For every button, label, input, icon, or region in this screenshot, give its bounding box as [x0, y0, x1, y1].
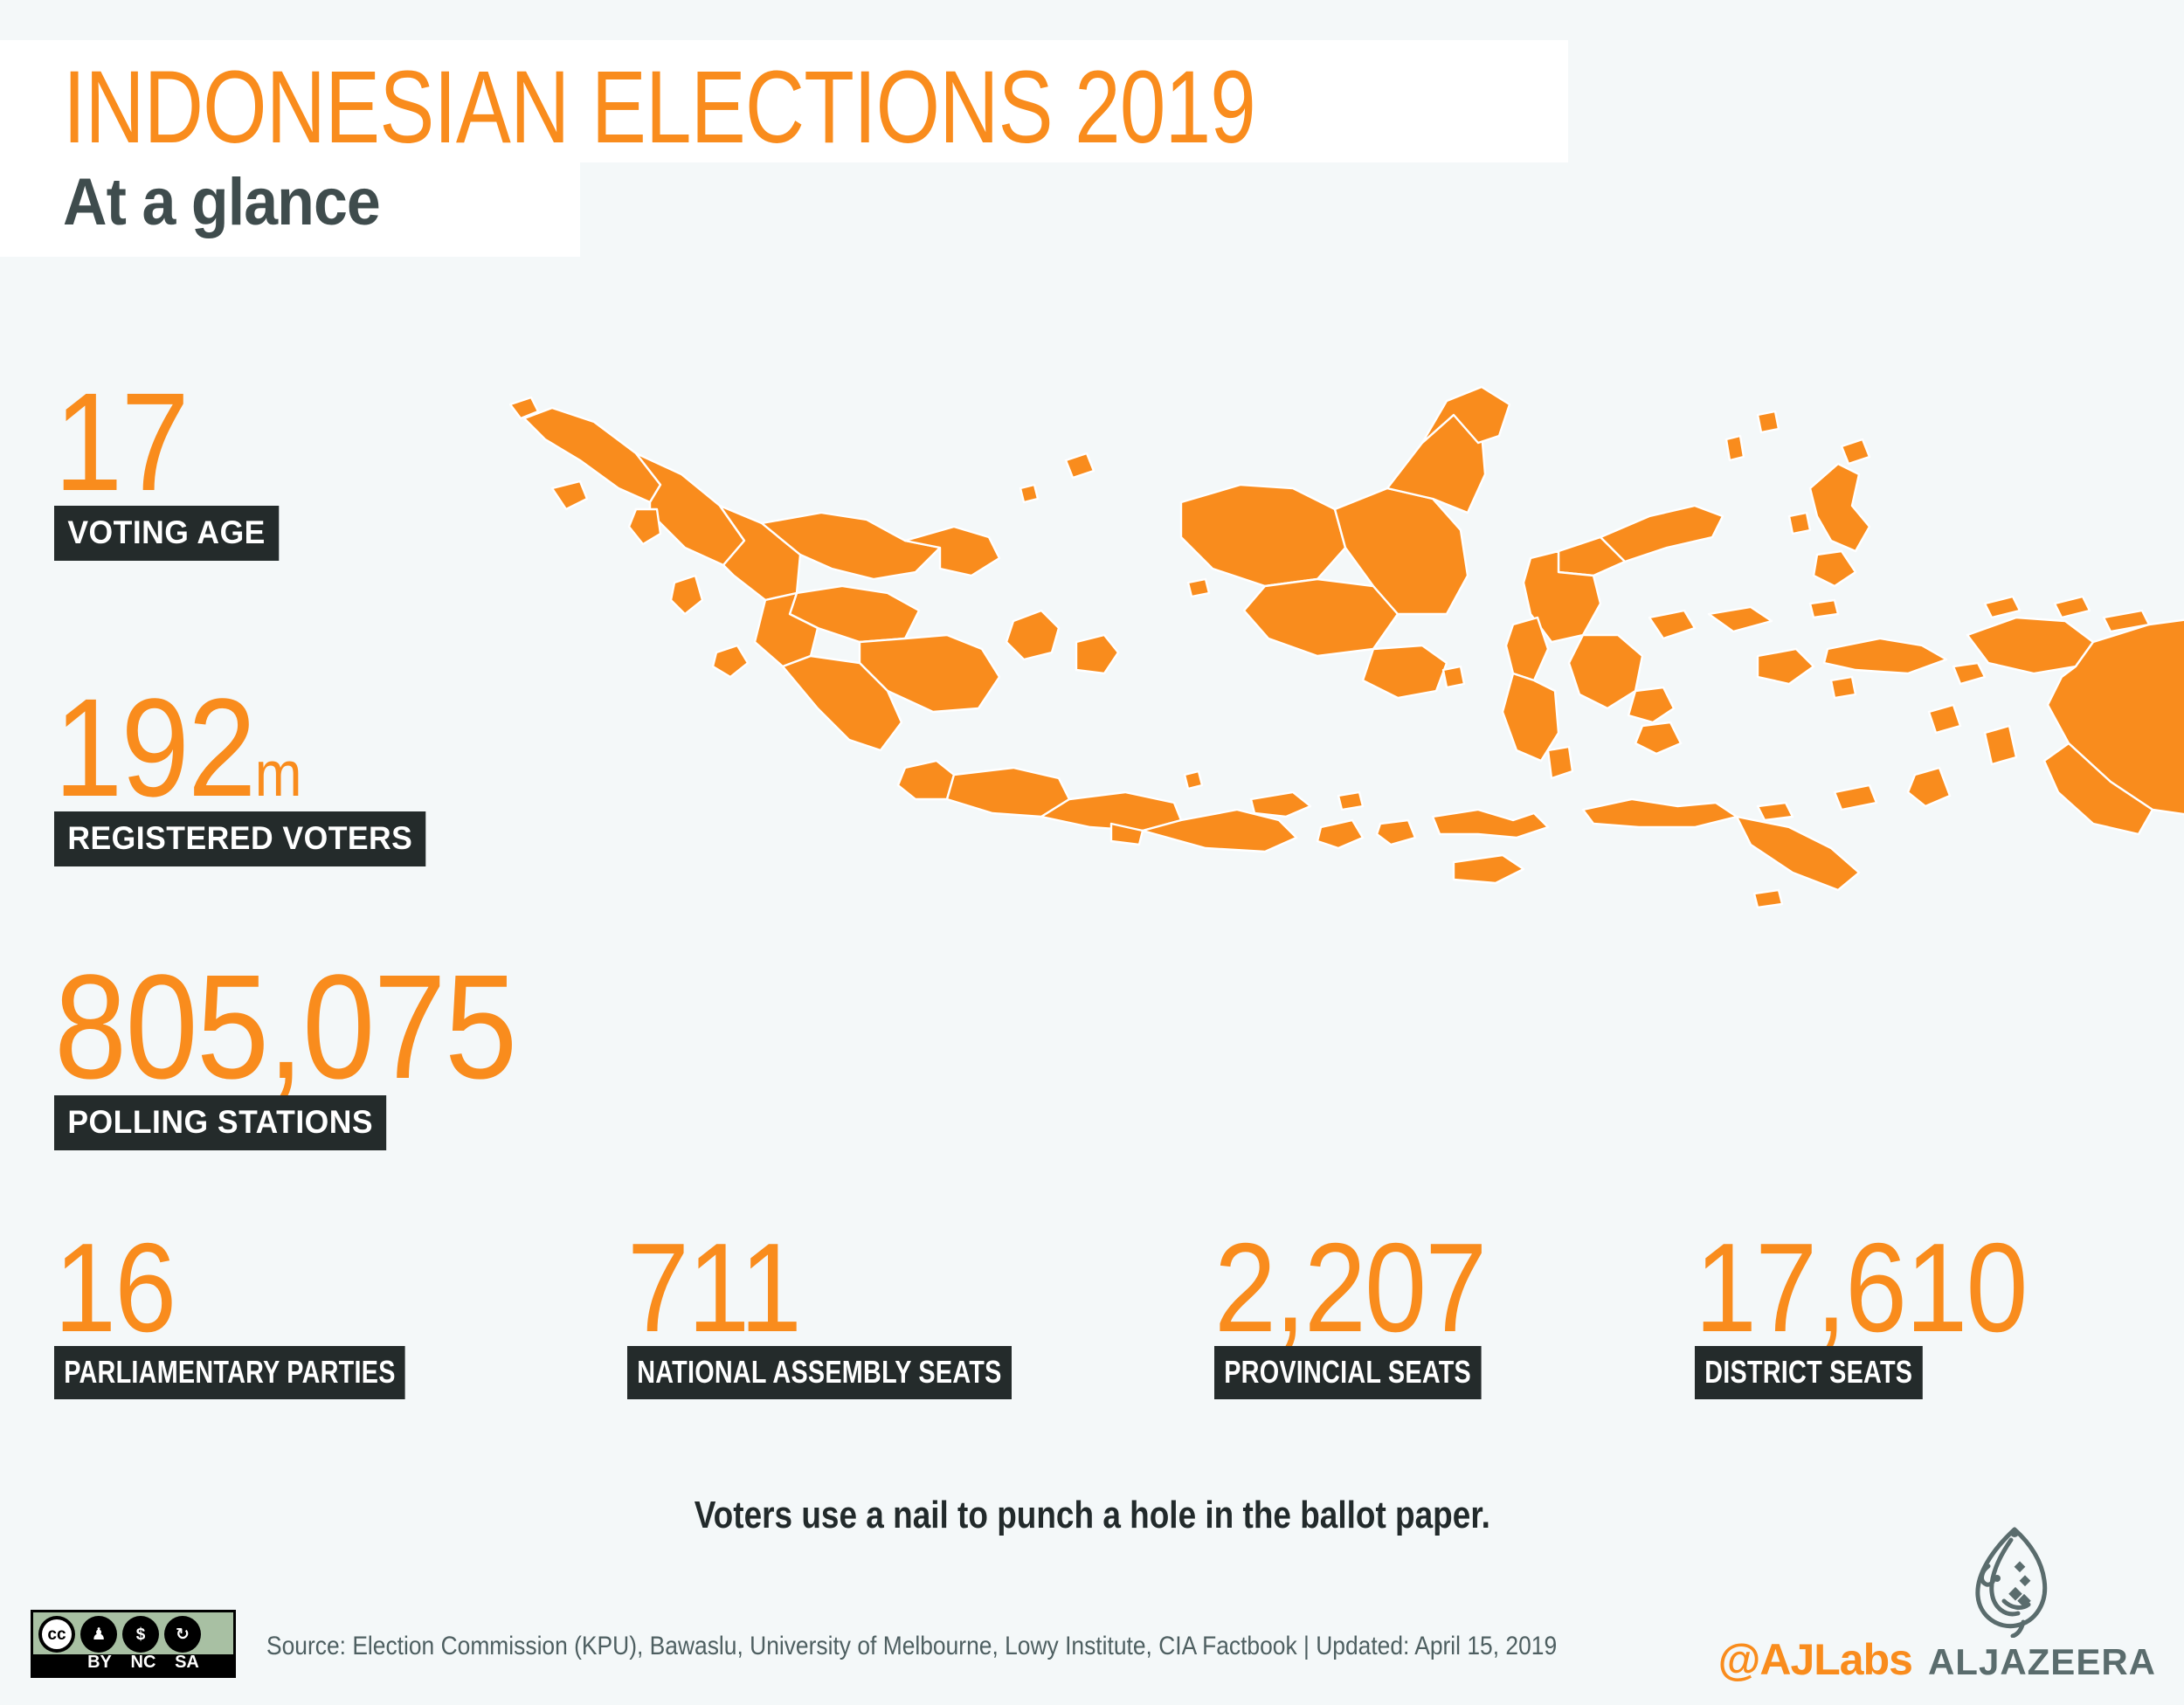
stat-label-provincial-seats: PROVINCIAL SEATS	[1214, 1346, 1481, 1399]
aljazeera-branding[interactable]: @AJLabs ALJAZEERA	[1780, 1524, 2156, 1690]
island-kangean	[1338, 792, 1363, 810]
province-central-kalimantan	[1244, 579, 1398, 656]
island-wetar	[1835, 785, 1876, 810]
province-south-kalimantan	[1363, 645, 1447, 698]
island-alor	[1758, 803, 1793, 820]
stat-label-voting-age: VOTING AGE	[54, 506, 279, 561]
island-enggano	[713, 645, 748, 677]
aljazeera-wordmarks: @AJLabs ALJAZEERA	[1718, 1634, 2156, 1685]
stat-value: 16	[54, 1230, 440, 1346]
indonesia-map	[489, 293, 2184, 922]
island-talaud	[1758, 411, 1779, 432]
stat-voting-age: 17 VOTING AGE	[54, 377, 288, 561]
island-aru	[1985, 726, 2016, 764]
island-biak	[2055, 597, 2090, 618]
island-sula	[1709, 607, 1772, 632]
stat-label-registered-voters: REGISTERED VOTERS	[54, 811, 426, 866]
indonesia-map-svg	[489, 293, 2184, 922]
cc-sa-label: SA	[164, 1653, 210, 1673]
page-subtitle: At a glance	[63, 168, 539, 238]
island-buton	[1635, 722, 1681, 754]
stat-label-polling-stations: POLLING STATIONS	[54, 1095, 386, 1150]
subtitle-band: At a glance	[0, 162, 580, 257]
island-karimata	[1188, 579, 1209, 597]
island-flores	[1583, 799, 1737, 827]
cc-nc-glyph: $	[126, 1619, 156, 1649]
stat-number: 805,075	[54, 944, 515, 1110]
island-bali	[1317, 820, 1363, 848]
stat-number: 17	[54, 363, 188, 520]
province-west-java	[947, 768, 1069, 817]
island-ternate	[1789, 513, 1810, 534]
stat-parliamentary-parties: 16 PARLIAMENTARY PARTIES	[54, 1230, 493, 1399]
stat-number: 16	[54, 1217, 175, 1358]
stat-value: 805,075	[54, 959, 515, 1095]
stat-value: 192m	[54, 683, 395, 811]
creative-commons-badge[interactable]: cc ♟ $ ↻ BY NC SA	[31, 1610, 236, 1678]
stat-label-national-assembly-seats: NATIONAL ASSEMBLY SEATS	[627, 1346, 1012, 1399]
island-lombok	[1377, 820, 1415, 845]
stat-value: 17	[54, 377, 260, 506]
island-anambas	[1020, 485, 1038, 502]
island-sumbawa	[1433, 810, 1548, 838]
island-madura	[1251, 792, 1310, 817]
cc-logo-text: cc	[42, 1619, 72, 1649]
island-siberut	[671, 576, 702, 614]
cc-by-glyph: ♟	[84, 1619, 114, 1649]
stat-number: 711	[627, 1217, 800, 1358]
stat-number: 2,207	[1214, 1217, 1486, 1358]
island-selayar	[1548, 747, 1572, 778]
stat-polling-stations: 805,075 POLLING STATIONS	[54, 959, 579, 1150]
province-west-kalimantan	[1181, 485, 1345, 586]
island-simeulue	[552, 481, 587, 509]
island-timor	[1737, 817, 1859, 890]
island-ambon	[1831, 677, 1856, 698]
province-southeast-sulawesi	[1569, 635, 1642, 708]
stat-unit: m	[255, 737, 301, 810]
island-tanimbar	[1908, 768, 1950, 806]
island-halmahera-south	[1814, 551, 1856, 586]
ajlabs-handle[interactable]: @AJLabs	[1718, 1634, 1912, 1685]
source-line: Source: Election Commission (KPU), Bawas…	[266, 1632, 1733, 1661]
island-banggai	[1649, 611, 1695, 639]
source-text: Source: Election Commission (KPU), Bawas…	[266, 1632, 1557, 1661]
cc-by-person-icon: ♟	[80, 1616, 117, 1653]
cc-logo-icon: cc	[38, 1616, 75, 1653]
stat-value: 711	[627, 1230, 1050, 1346]
cc-nc-nocommercial-icon: $	[122, 1616, 159, 1653]
island-obi	[1810, 600, 1838, 618]
title-band: INDONESIAN ELECTIONS 2019	[0, 40, 1568, 162]
sulawesi-se-tail	[1628, 687, 1674, 722]
stat-national-assembly-seats: 711 NATIONAL ASSEMBLY SEATS	[627, 1230, 1108, 1399]
island-bawean	[1185, 771, 1202, 789]
island-natuna	[1066, 453, 1094, 478]
island-rote	[1754, 890, 1782, 908]
cc-nc-label: NC	[121, 1653, 166, 1673]
island-halmahera	[1810, 464, 1870, 551]
island-nias	[629, 509, 660, 544]
island-morotai	[1842, 439, 1870, 464]
cc-by-label: BY	[77, 1653, 122, 1673]
stat-registered-voters: 192m REGISTERED VOTERS	[54, 683, 441, 866]
island-waigeo	[1985, 597, 2020, 618]
province-banten	[898, 761, 954, 799]
cc-badge-letters: BY NC SA	[33, 1651, 233, 1674]
province-north-sulawesi	[1600, 506, 1723, 562]
stat-value: 17,610	[1695, 1230, 2027, 1346]
island-seram	[1824, 639, 1946, 673]
cc-sa-sharealike-icon: ↻	[164, 1616, 201, 1653]
island-belitung	[1076, 635, 1118, 673]
papua-birds-head	[1967, 618, 2093, 673]
stat-number: 192	[54, 669, 255, 825]
map-landmasses	[510, 387, 2184, 908]
island-misool	[1953, 663, 1985, 684]
cc-sa-glyph: ↻	[168, 1619, 197, 1649]
cc-badge-top-band: cc ♟ $ ↻	[33, 1612, 233, 1654]
island-sumba	[1454, 855, 1524, 883]
stat-value: 2,207	[1214, 1230, 1508, 1346]
aljazeera-wordmark: ALJAZEERA	[1928, 1641, 2156, 1683]
stat-provincial-seats: 2,207 PROVINCIAL SEATS	[1214, 1230, 1548, 1399]
page-title: INDONESIAN ELECTIONS 2019	[63, 56, 1267, 159]
island-buru	[1758, 649, 1814, 684]
island-laut	[1443, 666, 1464, 687]
stat-number: 17,610	[1695, 1217, 2027, 1358]
province-west-sulawesi	[1506, 618, 1548, 680]
aljazeera-calligraphy-icon	[1931, 1524, 2062, 1638]
header: INDONESIAN ELECTIONS 2019 At a glance	[0, 40, 1568, 257]
stat-label-parliamentary-parties: PARLIAMENTARY PARTIES	[54, 1346, 405, 1399]
province-south-sulawesi	[1503, 673, 1559, 761]
island-sangihe	[1726, 436, 1744, 460]
caption-text: Voters use a nail to punch a hole in the…	[694, 1494, 1489, 1537]
stat-label-district-seats: DISTRICT SEATS	[1695, 1346, 1922, 1399]
island-kei	[1929, 705, 1960, 733]
stat-district-seats: 17,610 DISTRICT SEATS	[1695, 1230, 2072, 1399]
island-bangka	[1006, 611, 1059, 659]
